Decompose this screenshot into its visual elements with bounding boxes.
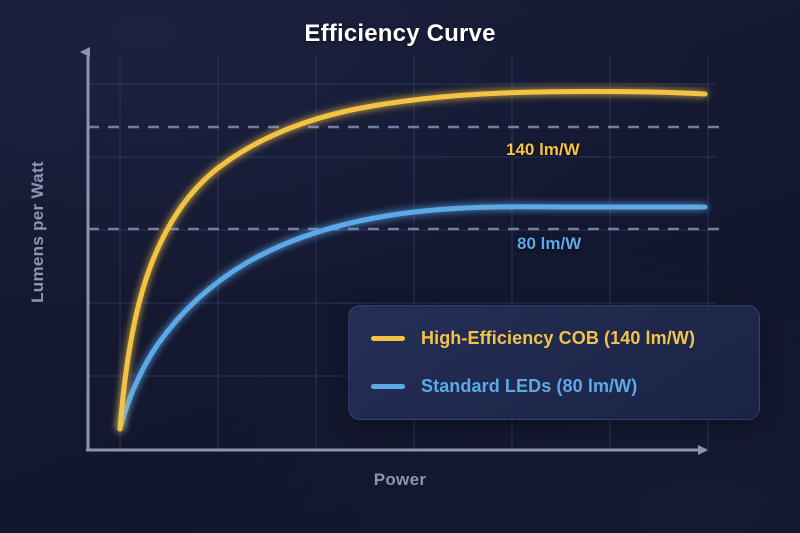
- legend-swatch-icon: [371, 336, 405, 341]
- x-axis-label: Power: [0, 470, 800, 490]
- efficiency-curve-plot: [0, 0, 800, 533]
- annotation-80-lm-per-w: 80 lm/W: [517, 234, 581, 254]
- legend-swatch-icon: [371, 384, 405, 389]
- legend-item-label: Standard LEDs (80 lm/W): [421, 376, 637, 397]
- annotation-140-lm-per-w: 140 lm/W: [506, 140, 580, 160]
- legend-item-label: High-Efficiency COB (140 lm/W): [421, 328, 695, 349]
- legend-item-high-efficiency-cob: High-Efficiency COB (140 lm/W): [371, 328, 695, 349]
- chart-canvas: Efficiency Curve Power Lumens per Watt 1…: [0, 0, 800, 533]
- y-axis-label: Lumens per Watt: [28, 132, 48, 332]
- chart-title: Efficiency Curve: [0, 20, 800, 48]
- chart-legend: High-Efficiency COB (140 lm/W) Standard …: [348, 305, 760, 420]
- legend-item-standard-leds: Standard LEDs (80 lm/W): [371, 376, 637, 397]
